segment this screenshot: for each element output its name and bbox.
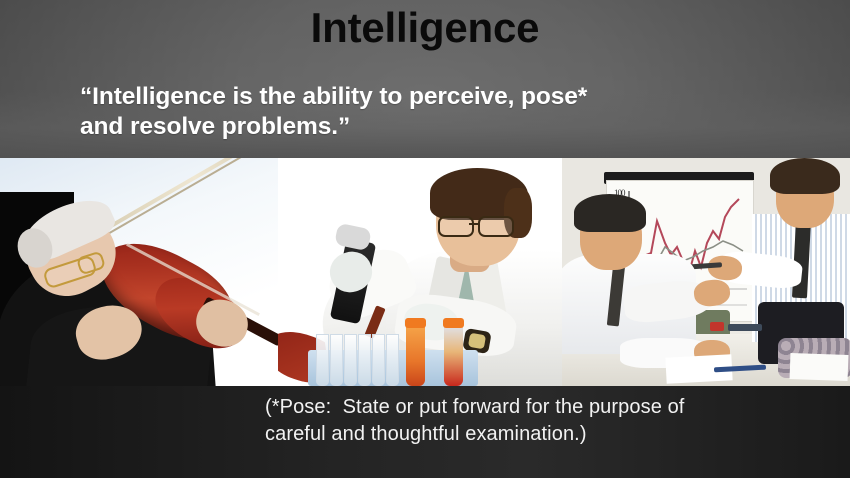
footnote-block: (*Pose: State or put forward for the pur… (265, 394, 825, 448)
meeting-paper-right (790, 353, 849, 381)
test-tube-orange (406, 324, 425, 386)
glasses-lens-left (438, 216, 474, 237)
quote-block: “Intelligence is the ability to perceive… (80, 82, 780, 142)
page-title: Intelligence (0, 2, 850, 54)
quote-line-1: “Intelligence is the ability to perceive… (80, 82, 780, 112)
test-tube-small (330, 334, 343, 386)
test-tube-red (444, 324, 463, 386)
standing-man-hair (770, 158, 840, 194)
test-tube-small (358, 334, 371, 386)
photo-violinist (0, 158, 285, 386)
test-tube-small (372, 334, 385, 386)
scientist-glasses (438, 216, 512, 233)
test-tube-small (316, 334, 329, 386)
photo-strip: 100 ~~ (0, 158, 850, 386)
seated-man-hair (574, 194, 646, 232)
footnote-line-1: (*Pose: State or put forward for the pur… (265, 394, 825, 421)
test-tube-cap-orange (405, 318, 426, 328)
test-tube-cap-red (443, 318, 464, 328)
photo-scientist (278, 158, 568, 386)
presentation-slide: Intelligence “Intelligence is the abilit… (0, 0, 850, 478)
test-tube-small (386, 334, 399, 386)
photo-business-meeting: 100 ~~ (562, 158, 850, 386)
footnote-line-2: careful and thoughtful examination.) (265, 421, 825, 448)
whiteboard-eraser (710, 322, 724, 331)
test-tube-small (344, 334, 357, 386)
marker-tray (728, 324, 762, 331)
scientist-wristwatch-face (468, 333, 486, 350)
quote-line-2: and resolve problems.” (80, 112, 780, 142)
glasses-lens-right (478, 216, 514, 237)
